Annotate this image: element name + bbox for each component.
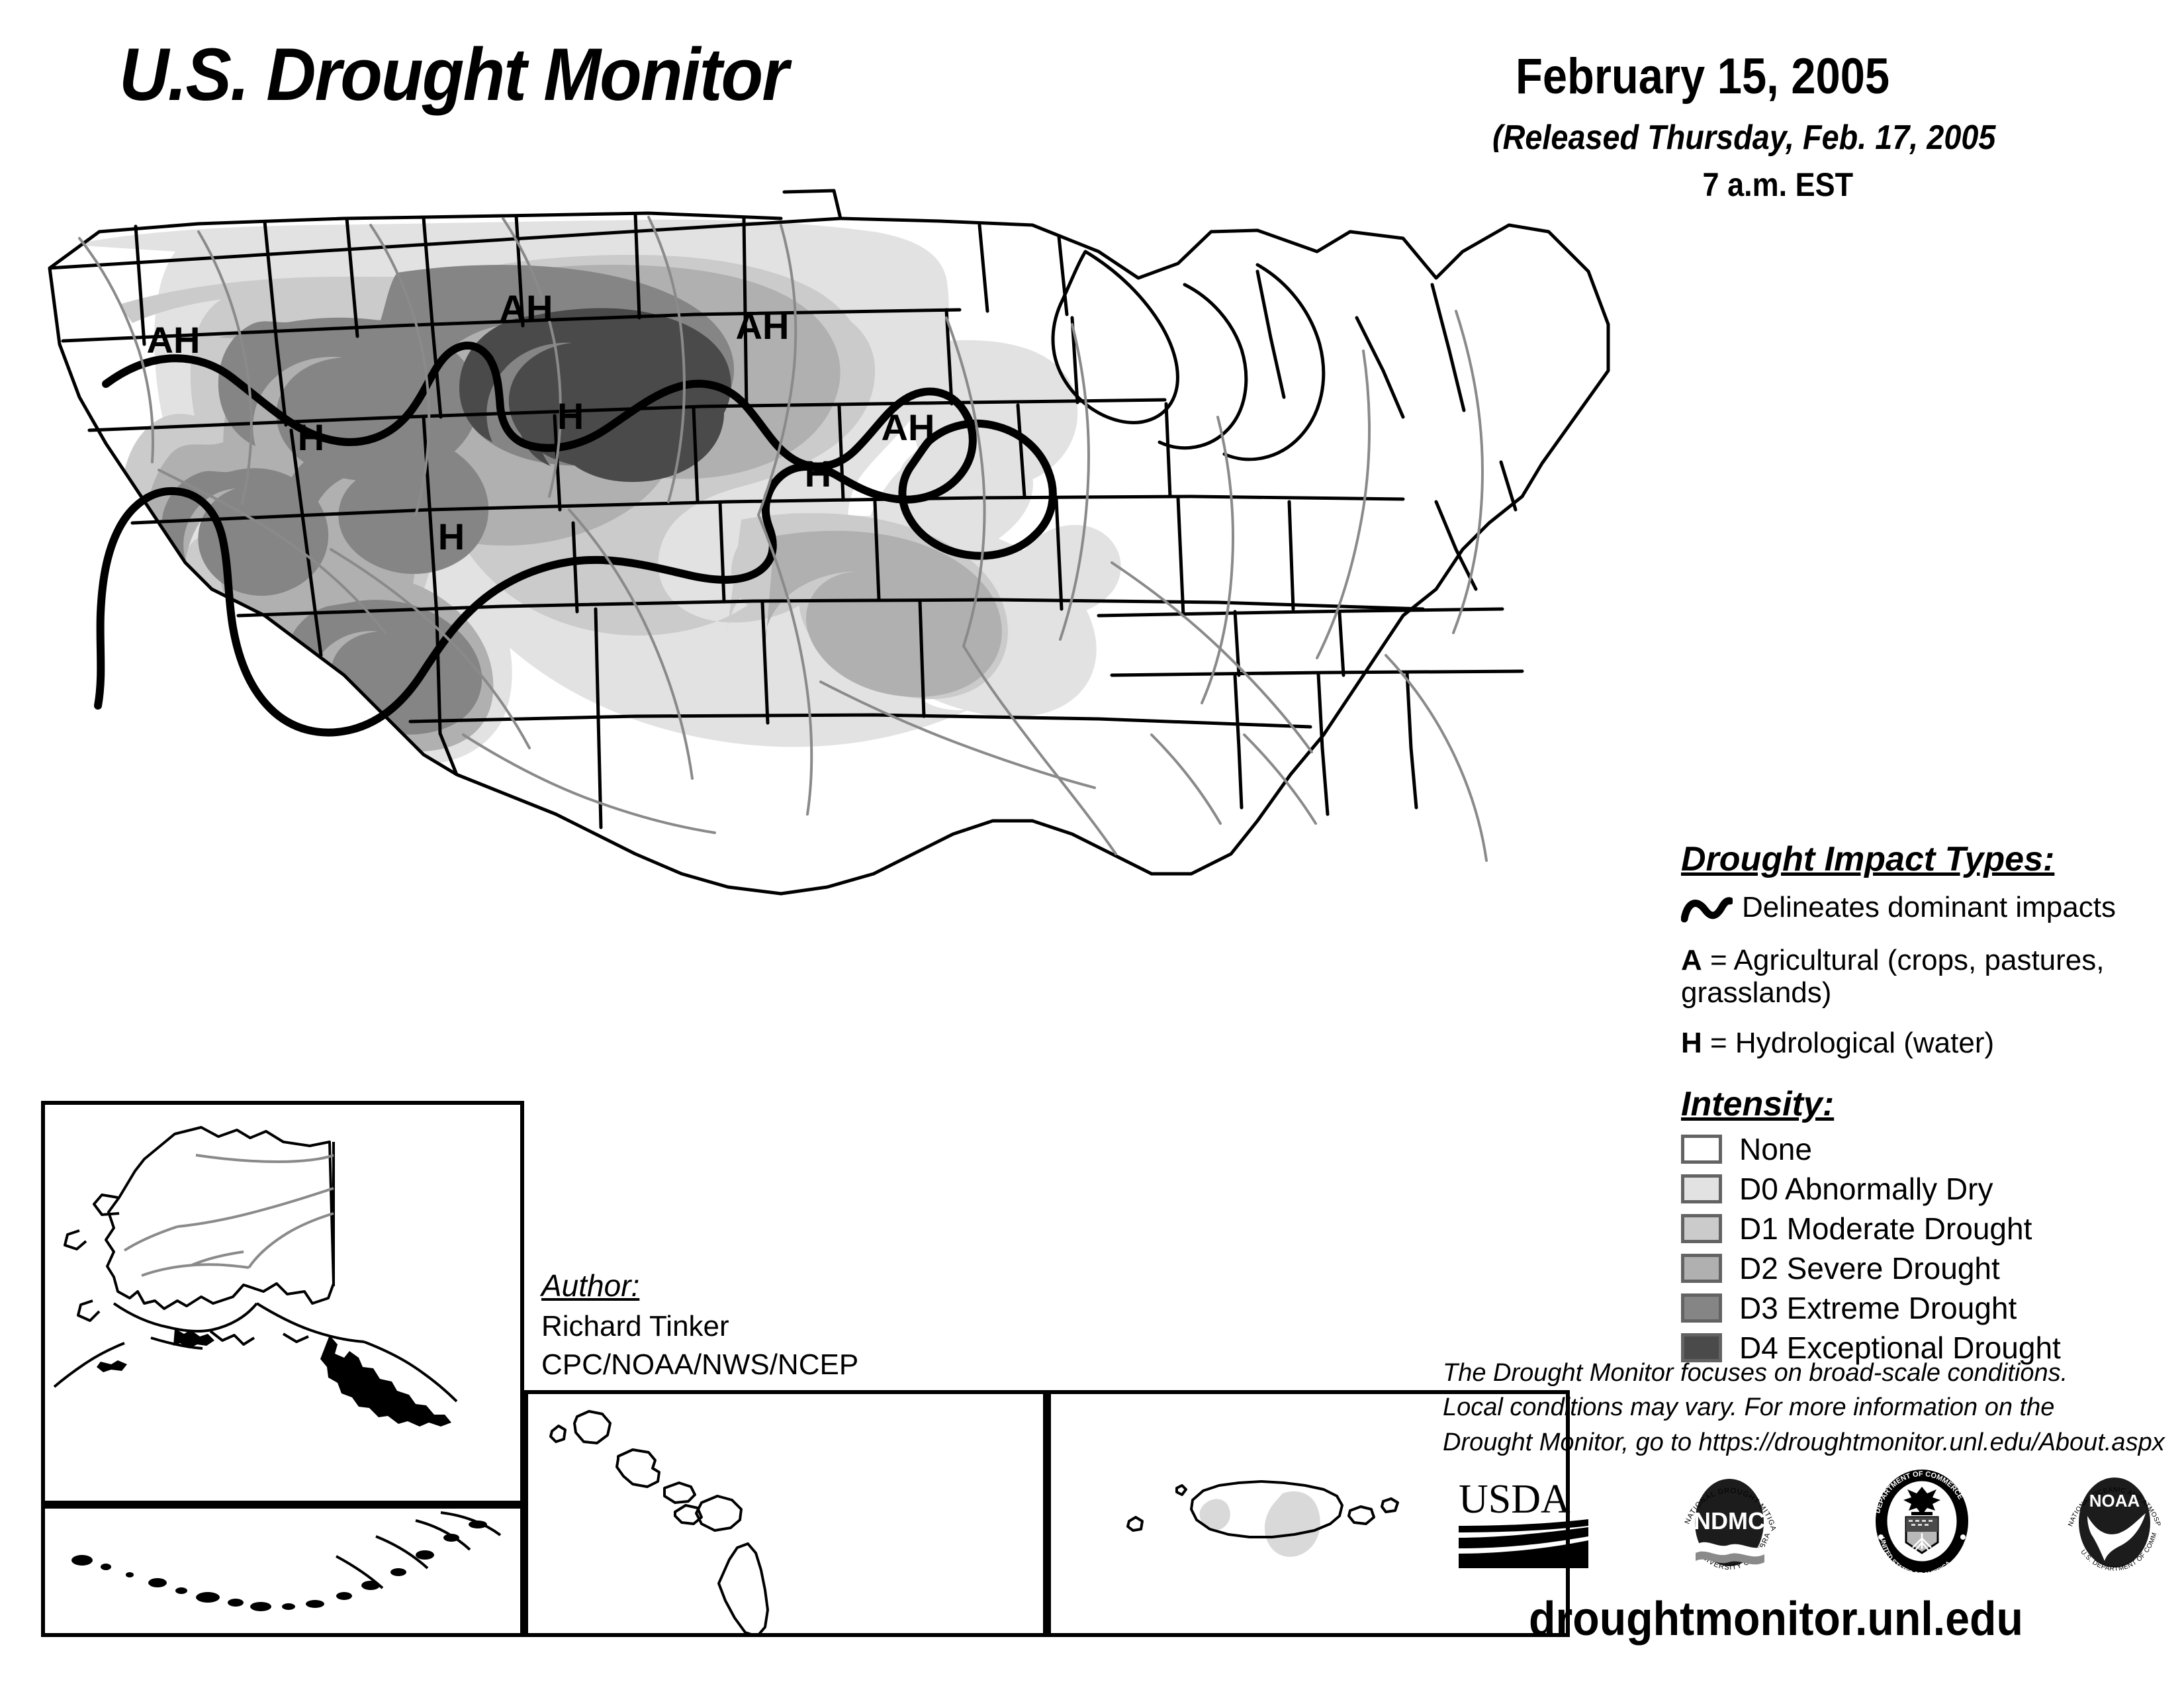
impact-label-oregon: AH [147,319,201,361]
intensity-legend: Intensity: None D0 Abnormally Dry D1 Mod… [1681,1084,2171,1368]
author-name: Richard Tinker [541,1310,858,1343]
usda-logo: USDA [1456,1472,1592,1571]
ndmc-logo: NATIONAL DROUGHT MITIGATION CENTER UNIVE… [1673,1468,1786,1574]
page-title: U.S. Drought Monitor [119,32,788,117]
impact-label-north-dakota: AH [736,305,790,347]
swatch-d3 [1681,1293,1722,1323]
impact-types-title: Drought Impact Types: [1681,839,2171,879]
impact-label-kansas-nebraska: AH [882,406,935,448]
inset-aleutians [41,1505,524,1637]
impact-label-nevada: H [298,416,324,458]
pr-d0-shading [1200,1491,1320,1557]
svg-text:NDMC: NDMC [1694,1507,1765,1534]
agricultural-definition: A = Agricultural (crops, pastures, grass… [1681,944,2171,1009]
intensity-label-d0: D0 Abnormally Dry [1739,1171,1993,1207]
hydrological-key: H [1681,1027,1702,1059]
swatch-d1 [1681,1214,1722,1243]
swatch-d0 [1681,1174,1722,1203]
agricultural-key: A [1681,944,1702,976]
wave-squiggle-icon [1681,896,1733,927]
disclaimer-text: The Drought Monitor focuses on broad-sca… [1443,1356,2177,1460]
intensity-row-d3: D3 Extreme Drought [1681,1288,2171,1328]
doc-logo: DEPARTMENT OF COMMERCE UNITED STATES OF … [1868,1468,1977,1574]
intensity-row-d0: D0 Abnormally Dry [1681,1169,2171,1209]
delineates-row: Delineates dominant impacts [1681,892,2171,927]
intensity-row-d2: D2 Severe Drought [1681,1248,2171,1288]
drought-impact-types-legend: Drought Impact Types: Delineates dominan… [1681,839,2171,1059]
intensity-label-d3: D3 Extreme Drought [1739,1290,2017,1326]
intensity-title: Intensity: [1681,1084,2171,1124]
swatch-none [1681,1135,1722,1164]
author-block: Author: Richard Tinker CPC/NOAA/NWS/NCEP [541,1268,858,1382]
impact-label-kansas: H [805,453,831,494]
disclaimer-line-1: The Drought Monitor focuses on broad-sca… [1443,1356,2177,1390]
intensity-label-d2: D2 Severe Drought [1739,1250,2000,1286]
impact-label-wyoming: H [557,395,584,437]
svg-text:NOAA: NOAA [2089,1491,2140,1511]
intensity-label-d1: D1 Moderate Drought [1739,1211,2032,1246]
noaa-logo: NATIONAL OCEANIC AND ATMOSPHERIC ADMINIS… [2058,1468,2171,1574]
agency-logos: USDA NATIONAL DROUGHT MITIGATION CENTER … [1456,1462,2171,1581]
agricultural-text: = Agricultural (crops, pastures, grassla… [1681,944,2105,1009]
author-organization: CPC/NOAA/NWS/NCEP [541,1348,858,1382]
svg-text:USDA: USDA [1459,1477,1570,1522]
hydrological-definition: H = Hydrological (water) [1681,1027,2171,1059]
delineates-label: Delineates dominant impacts [1742,892,2116,923]
disclaimer-line-3: Drought Monitor, go to https://droughtmo… [1443,1425,2177,1460]
intensity-row-none: None [1681,1129,2171,1169]
map-date: February 15, 2005 [1516,48,1889,105]
impact-label-arizona-newmexico: H [438,516,465,557]
intensity-row-d1: D1 Moderate Drought [1681,1209,2171,1248]
intensity-label-none: None [1739,1131,1812,1167]
disclaimer-line-2: Local conditions may vary. For more info… [1443,1390,2177,1425]
author-label: Author: [541,1268,858,1303]
inset-hawaii [524,1390,1047,1637]
inset-alaska [41,1101,524,1505]
website-url: droughtmonitor.unl.edu [1529,1592,2023,1646]
swatch-d2 [1681,1254,1722,1283]
release-date: (Released Thursday, Feb. 17, 2005 [1492,118,1995,158]
us-drought-map: AH AH AH H H AH H H [0,152,1694,1125]
impact-label-montana: AH [500,287,553,329]
hydrological-text: = Hydrological (water) [1702,1027,1994,1059]
